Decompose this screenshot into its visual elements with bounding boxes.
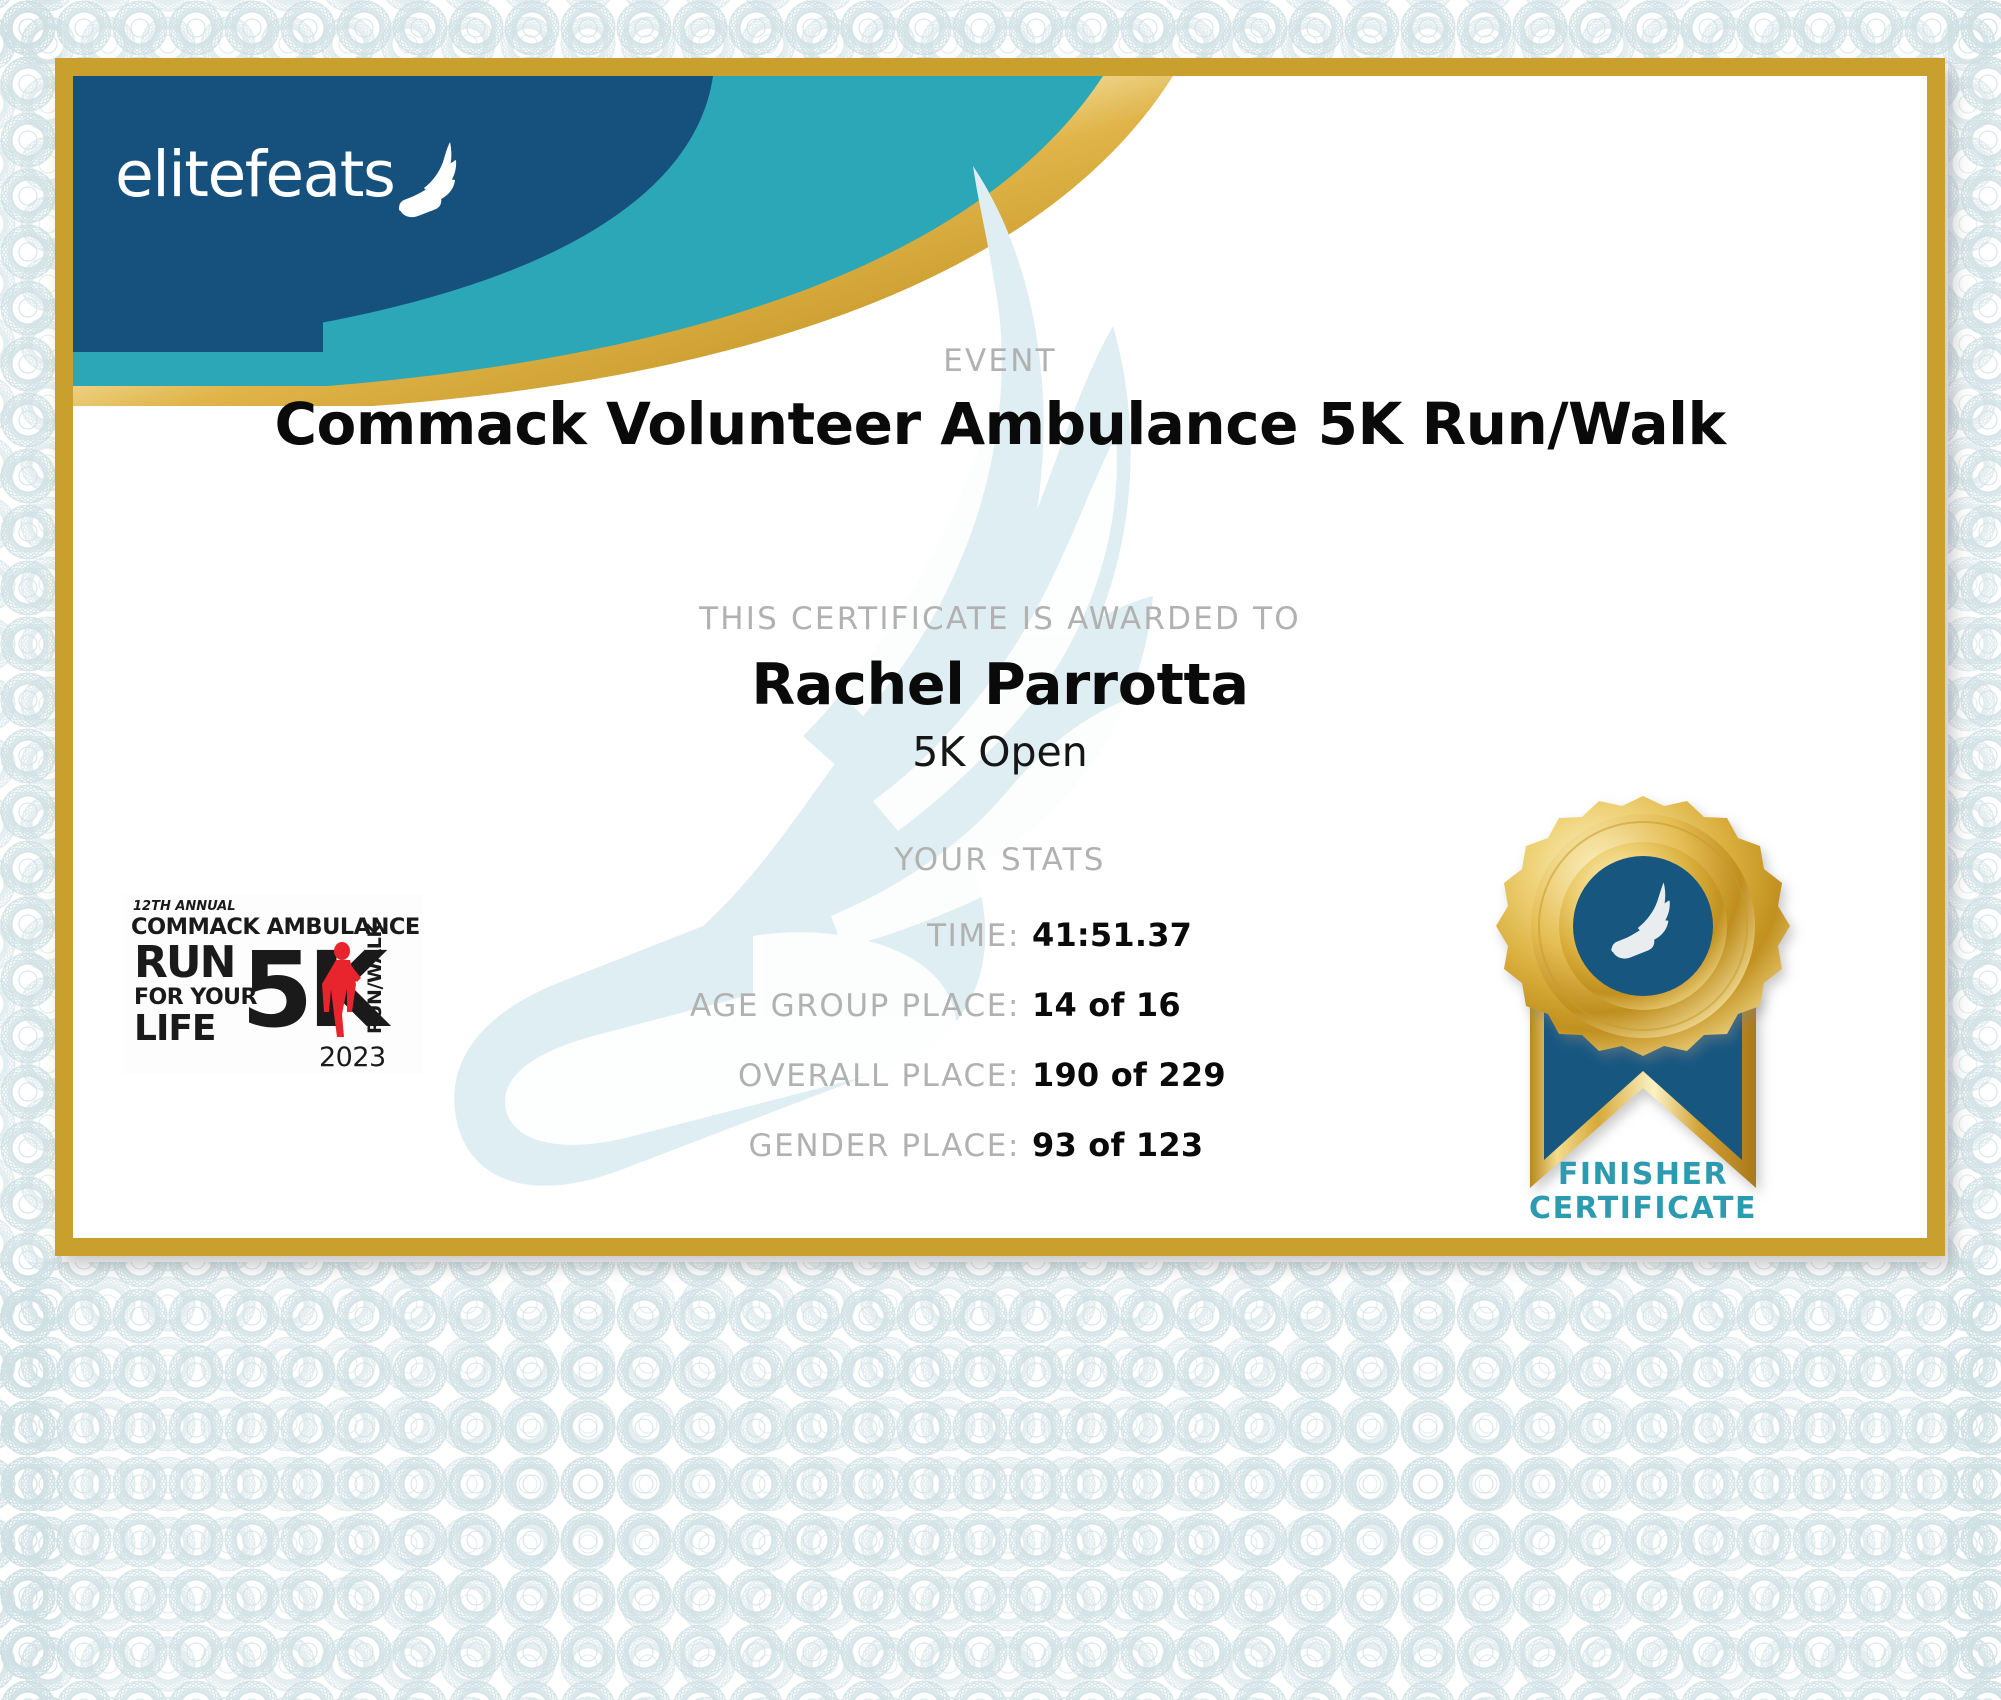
finisher-badge: 2023 (1468, 788, 1818, 1208)
finisher-caption: FINISHER CERTIFICATE (1443, 1158, 1843, 1225)
stat-label: TIME: (400, 918, 1020, 954)
event-logo-line1: RUN (134, 937, 234, 988)
stat-label: OVERALL PLACE: (400, 1058, 1020, 1094)
event-logo-annual: 12TH ANNUAL (133, 899, 236, 914)
stat-row-age-group-place: AGE GROUP PLACE: 14 of 16 (400, 986, 1600, 1056)
stat-row-gender-place: GENDER PLACE: 93 of 123 (400, 1126, 1600, 1196)
stat-row-time: TIME: 41:51.37 (400, 916, 1600, 986)
event-name: Commack Volunteer Ambulance 5K Run/Walk (73, 390, 1927, 458)
finisher-caption-line2: CERTIFICATE (1443, 1192, 1843, 1226)
stat-label: AGE GROUP PLACE: (400, 988, 1020, 1024)
event-logo-line3: LIFE (134, 1008, 216, 1049)
finisher-caption-line1: FINISHER (1443, 1158, 1843, 1192)
awarded-to-label: THIS CERTIFICATE IS AWARDED TO (73, 601, 1927, 637)
recipient-name: Rachel Parrotta (73, 652, 1927, 718)
certificate-page: elitefeats (0, 0, 2001, 1700)
recipient-division: 5K Open (73, 728, 1927, 776)
event-logo-line2: FOR YOUR (134, 985, 258, 1010)
stat-row-overall-place: OVERALL PLACE: 190 of 229 (400, 1056, 1600, 1126)
stats-table: TIME: 41:51.37 AGE GROUP PLACE: 14 of 16… (400, 916, 1600, 1196)
event-label: EVENT (73, 343, 1927, 379)
event-logo-year: 2023 (319, 1042, 386, 1073)
event-logo-vertical: RUN/WALK (364, 922, 386, 1034)
certificate-body: elitefeats (73, 76, 1927, 1238)
event-logo: 12TH ANNUAL COMMACK AMBULANCE 5K RUN FOR… (123, 894, 423, 1074)
certificate-content: EVENT Commack Volunteer Ambulance 5K Run… (73, 76, 1927, 1238)
stat-label: GENDER PLACE: (400, 1128, 1020, 1164)
